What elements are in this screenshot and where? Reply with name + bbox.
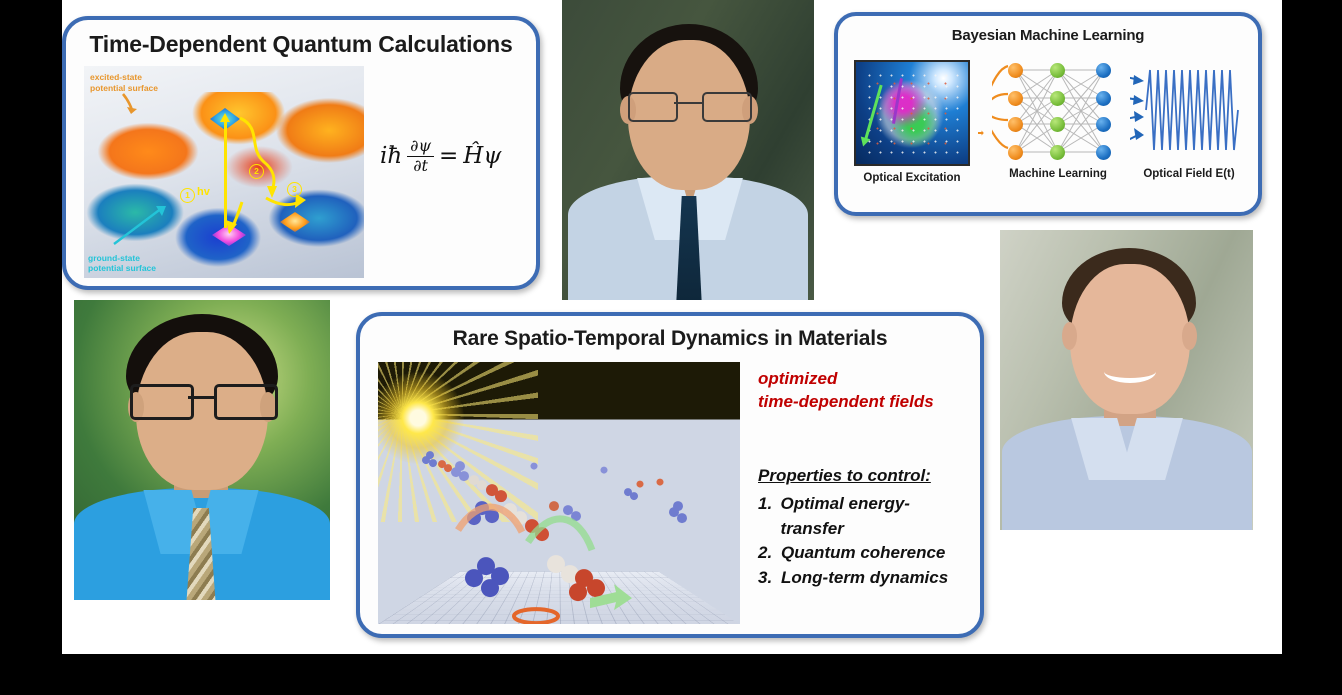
list-item: 3. Long-term dynamics bbox=[758, 566, 968, 591]
nn-node-output-4 bbox=[1096, 145, 1111, 160]
properties-list: 1. Optimal energy-transfer 2. Quantum co… bbox=[758, 492, 968, 591]
optical-field-column: Optical Field E(t) bbox=[1130, 60, 1248, 206]
step-1-marker: 1 bbox=[180, 188, 195, 203]
list-item: 2. Quantum coherence bbox=[758, 541, 968, 566]
excited-state-label: excited-state potential surface bbox=[90, 72, 158, 93]
equation-denominator: ∂t bbox=[410, 157, 431, 175]
portrait-photo-bottom-left bbox=[74, 300, 330, 600]
equation-rhs: Ĥψ bbox=[463, 143, 501, 169]
step-3-marker: 3 bbox=[287, 182, 302, 197]
nn-node-input-3 bbox=[1008, 117, 1023, 132]
panel-time-dependent-quantum-calculations: Time-Dependent Quantum Calculations bbox=[62, 16, 540, 290]
step-2-marker: 2 bbox=[249, 164, 264, 179]
optimized-line-2: time-dependent fields bbox=[758, 391, 968, 414]
eyeglasses-icon bbox=[128, 384, 276, 416]
panel-title-tdq: Time-Dependent Quantum Calculations bbox=[66, 32, 536, 56]
panel-rare-spatio-temporal-dynamics: Rare Spatio-Temporal Dynamics in Materia… bbox=[356, 312, 984, 638]
face bbox=[1070, 264, 1190, 414]
caption-optical-excitation: Optical Excitation bbox=[863, 172, 960, 184]
ground-state-label: ground-state potential surface bbox=[88, 253, 156, 274]
nn-node-output-3 bbox=[1096, 117, 1111, 132]
potential-energy-surface-figure: 1 hv 2 3 excited-state potential surface… bbox=[84, 66, 364, 278]
list-item-text: Long-term dynamics bbox=[781, 566, 948, 591]
list-item-index: 3. bbox=[758, 566, 775, 591]
excited-label-pointer-icon bbox=[120, 92, 144, 114]
portrait-photo-top-center bbox=[562, 0, 814, 300]
properties-heading: Properties to control: bbox=[758, 466, 968, 486]
list-item: 1. Optimal energy-transfer bbox=[758, 492, 968, 541]
eyeglasses-icon bbox=[624, 92, 754, 120]
list-item-text: Optimal energy-transfer bbox=[781, 492, 968, 541]
nn-node-input-2 bbox=[1008, 91, 1023, 106]
ground-label-pointer-icon bbox=[112, 204, 168, 246]
screenshot-root: Time-Dependent Quantum Calculations bbox=[0, 0, 1342, 695]
nn-node-hidden-2 bbox=[1050, 91, 1065, 106]
photon-label: hv bbox=[197, 186, 210, 198]
equation-prefix: iħ bbox=[380, 143, 402, 169]
equation-fraction: ∂ψ ∂t bbox=[407, 138, 434, 175]
list-item-index: 1. bbox=[758, 492, 775, 541]
schrodinger-equation: iħ ∂ψ ∂t = Ĥψ bbox=[380, 138, 550, 175]
bml-content: Optical Excitation bbox=[854, 60, 1248, 206]
nn-node-hidden-1 bbox=[1050, 63, 1065, 78]
panel-bayesian-machine-learning: Bayesian Machine Learning Optical Excita… bbox=[834, 12, 1262, 216]
ear-right bbox=[1182, 322, 1197, 350]
slide-canvas: Time-Dependent Quantum Calculations bbox=[62, 0, 1282, 654]
neural-network-diagram bbox=[992, 60, 1124, 162]
tdq-content: 1 hv 2 3 excited-state potential surface… bbox=[80, 66, 526, 278]
panel-title-rst: Rare Spatio-Temporal Dynamics in Materia… bbox=[360, 328, 980, 350]
molecule-chain bbox=[378, 446, 740, 624]
nn-node-hidden-3 bbox=[1050, 117, 1065, 132]
caption-optical-field: Optical Field E(t) bbox=[1143, 168, 1234, 180]
flow-arrow-icon bbox=[978, 118, 984, 148]
ear-left bbox=[1062, 322, 1077, 350]
list-item-index: 2. bbox=[758, 541, 775, 566]
spatio-temporal-lattice-figure bbox=[378, 362, 740, 624]
optical-excitation-image bbox=[854, 60, 970, 166]
list-item-text: Quantum coherence bbox=[781, 541, 945, 566]
equation-equals: = bbox=[439, 143, 458, 169]
nn-node-hidden-4 bbox=[1050, 145, 1065, 160]
optimized-fields-note: optimized time-dependent fields bbox=[758, 368, 968, 414]
optical-excitation-column: Optical Excitation bbox=[854, 60, 970, 206]
machine-learning-column: Machine Learning bbox=[992, 60, 1124, 206]
panel-title-bml: Bayesian Machine Learning bbox=[838, 28, 1258, 44]
equation-numerator: ∂ψ bbox=[407, 138, 434, 157]
smile bbox=[1104, 360, 1156, 383]
rst-content: optimized time-dependent fields Properti… bbox=[376, 362, 968, 624]
optical-field-waveform bbox=[1130, 60, 1248, 162]
optimized-line-1: optimized bbox=[758, 368, 968, 391]
nn-node-input-1 bbox=[1008, 63, 1023, 78]
nn-node-input-4 bbox=[1008, 145, 1023, 160]
caption-machine-learning: Machine Learning bbox=[1009, 168, 1107, 180]
relaxation-curved-arrows-icon bbox=[204, 106, 354, 246]
rst-annotations: optimized time-dependent fields Properti… bbox=[758, 368, 968, 624]
nn-node-output-2 bbox=[1096, 91, 1111, 106]
portrait-photo-right bbox=[1000, 230, 1253, 530]
atom-dots bbox=[864, 70, 960, 156]
nn-node-output-1 bbox=[1096, 63, 1111, 78]
